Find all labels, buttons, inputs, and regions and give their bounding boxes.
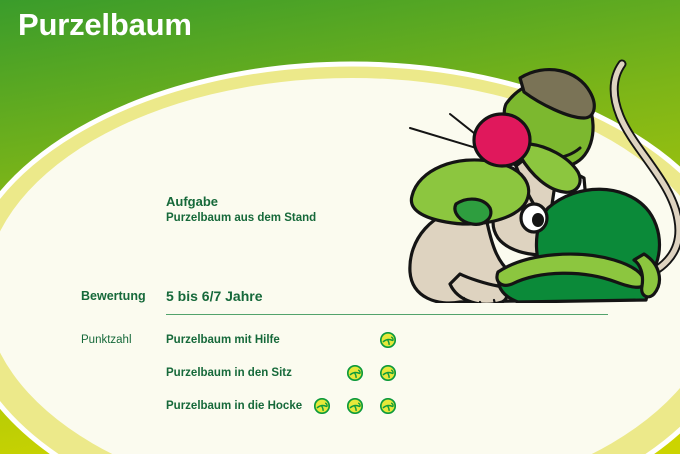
- score-row-label: Purzelbaum mit Hilfe: [166, 334, 280, 346]
- score-token-group: [296, 398, 396, 414]
- rating-value: 5 bis 6/7 Jahre: [166, 288, 263, 304]
- score-token-group: [296, 365, 396, 381]
- page-title: Purzelbaum: [18, 6, 192, 44]
- leaf-token-icon: [380, 365, 396, 381]
- score-row-label: Purzelbaum in den Sitz: [166, 367, 292, 379]
- score-row: Purzelbaum in die Hocke: [166, 398, 396, 431]
- leaf-token-icon: [380, 332, 396, 348]
- score-row-list: Purzelbaum mit HilfePurzelbaum in den Si…: [166, 332, 396, 431]
- leaf-token-icon: [380, 398, 396, 414]
- leaf-token-icon: [314, 398, 330, 414]
- task-description: Purzelbaum aus dem Stand: [166, 211, 316, 225]
- horizontal-divider: [166, 314, 608, 315]
- score-label: Punktzahl: [81, 334, 132, 346]
- score-row-label: Purzelbaum in die Hocke: [166, 400, 302, 412]
- score-row: Purzelbaum in den Sitz: [166, 365, 396, 398]
- task-block: Aufgabe Purzelbaum aus dem Stand: [166, 194, 316, 225]
- leaf-token-icon: [347, 365, 363, 381]
- rating-label: Bewertung: [81, 289, 146, 303]
- mouse-somersault-illustration: [398, 58, 680, 303]
- page-root: Purzelbaum: [0, 0, 680, 454]
- task-heading: Aufgabe: [166, 194, 316, 209]
- score-row: Purzelbaum mit Hilfe: [166, 332, 396, 365]
- leaf-token-icon: [347, 398, 363, 414]
- score-token-group: [296, 332, 396, 348]
